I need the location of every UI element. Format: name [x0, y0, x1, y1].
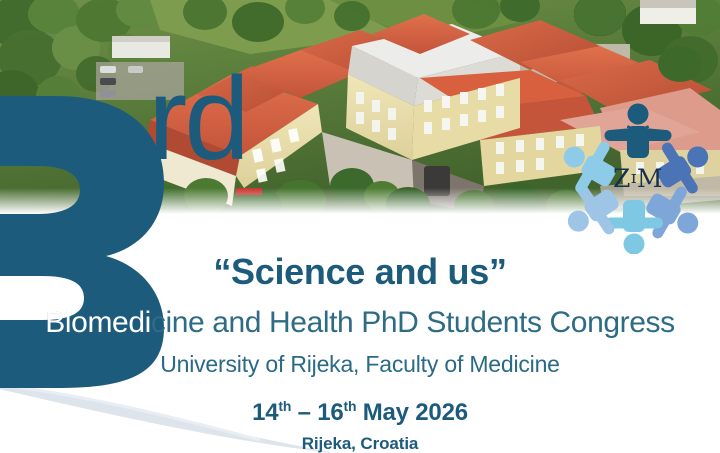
congress-subtitle-wrap: Biomedicine and Health PhD Students Cong…: [45, 306, 674, 340]
date-day-to: 16: [317, 399, 343, 426]
zim-figure-top: [605, 104, 672, 159]
date-day-to-suffix: th: [344, 398, 357, 414]
congress-theme-title: “Science and us”: [0, 251, 720, 293]
date-month-year: May 2026: [356, 399, 468, 426]
congress-poster: rd: [0, 0, 720, 453]
congress-city: Rijeka, Croatia: [0, 434, 720, 453]
congress-subtitle: Biomedicine and Health PhD Students Cong…: [0, 306, 720, 340]
congress-dates: 14th – 16th May 2026: [0, 399, 720, 427]
date-dash: –: [291, 399, 317, 426]
ordinal-suffix-rd: rd: [148, 60, 247, 178]
congress-venue: University of Rijeka, Faculty of Medicin…: [0, 351, 720, 378]
date-day-from-suffix: th: [278, 398, 291, 414]
date-day-from: 14: [252, 399, 278, 426]
poster-text-block: “Science and us” Biomedicine and Health …: [0, 214, 720, 453]
